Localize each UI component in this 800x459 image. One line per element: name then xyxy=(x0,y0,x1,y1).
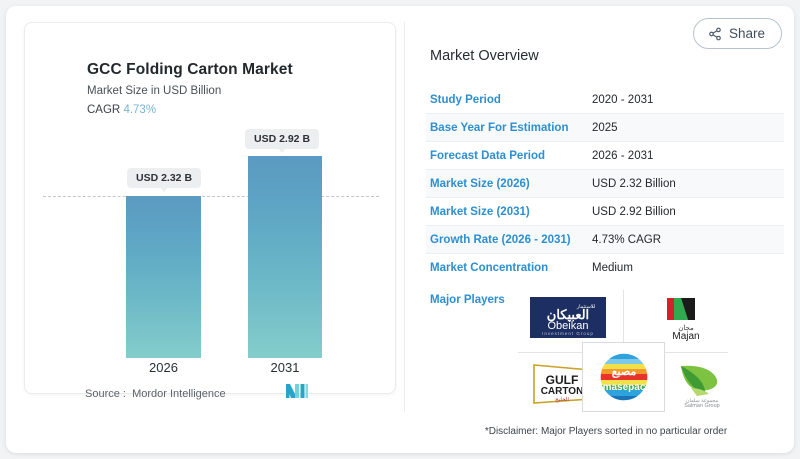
table-row: Study Period 2020 - 2031 xyxy=(426,86,784,114)
row-value: 2026 - 2031 xyxy=(592,150,653,162)
chart-cagr: CAGR 4.73% xyxy=(87,104,156,116)
major-players-logo-grid: للاستثمار العبيكان Obeikan Investment Gr… xyxy=(518,290,728,412)
x-tick-2026: 2026 xyxy=(126,360,201,375)
players-disclaimer: *Disclaimer: Major Players sorted in no … xyxy=(426,426,786,437)
player-logo-obeikan[interactable]: للاستثمار العبيكان Obeikan Investment Gr… xyxy=(524,290,612,344)
chart-source-row: Source : Mordor Intelligence xyxy=(43,383,379,404)
bar-label-2026: USD 2.32 B xyxy=(127,168,201,188)
table-row: Forecast Data Period 2026 - 2031 xyxy=(426,142,784,170)
svg-text:Investment Group: Investment Group xyxy=(542,331,594,336)
row-key: Market Size (2031) xyxy=(426,206,592,218)
cagr-label: CAGR xyxy=(87,104,120,116)
row-key: Study Period xyxy=(426,94,592,106)
svg-text:CARTON: CARTON xyxy=(541,386,584,397)
row-value: 2025 xyxy=(592,122,618,134)
mordor-intelligence-logo xyxy=(286,383,308,404)
svg-text:Majan: Majan xyxy=(672,331,699,341)
player-logo-masepac[interactable]: مصبع masepac xyxy=(582,342,665,412)
chart-title: GCC Folding Carton Market xyxy=(87,61,293,79)
row-value: USD 2.32 Billion xyxy=(592,178,676,190)
row-key: Forecast Data Period xyxy=(426,150,592,162)
row-key: Market Concentration xyxy=(426,262,592,274)
svg-text:masepac: masepac xyxy=(602,382,645,393)
chart-x-axis: 2026 2031 xyxy=(43,360,379,380)
svg-text:الخليج: الخليج xyxy=(555,396,569,403)
chart-panel: GCC Folding Carton Market Market Size in… xyxy=(24,22,396,394)
bar-2026[interactable] xyxy=(126,196,201,358)
bar-2031[interactable] xyxy=(248,156,322,358)
bar-label-2031: USD 2.92 B xyxy=(245,129,319,149)
chart-subtitle: Market Size in USD Billion xyxy=(87,85,221,97)
table-row: Growth Rate (2026 - 2031) 4.73% CAGR xyxy=(426,226,784,254)
x-tick-2031: 2031 xyxy=(248,360,322,375)
overview-title: Market Overview xyxy=(430,48,786,64)
table-row: Base Year For Estimation 2025 xyxy=(426,114,784,142)
row-value: USD 2.92 Billion xyxy=(592,206,676,218)
player-logo-salman-group[interactable]: مجموعة سلمان Salman Group xyxy=(658,356,746,410)
table-row: Market Size (2031) USD 2.92 Billion xyxy=(426,198,784,226)
row-value: 4.73% CAGR xyxy=(592,234,661,246)
source-name: Mordor Intelligence xyxy=(132,388,226,400)
market-overview-panel: Market Overview Study Period 2020 - 2031… xyxy=(426,22,786,412)
row-value: Medium xyxy=(592,262,633,274)
player-logo-majan[interactable]: مجان Majan xyxy=(642,290,730,344)
row-key: Growth Rate (2026 - 2031) xyxy=(426,234,592,246)
chart-plot-area: USD 2.32 B USD 2.92 B xyxy=(43,128,379,358)
svg-text:مصبع: مصبع xyxy=(611,366,636,378)
svg-text:GULF: GULF xyxy=(546,373,579,387)
major-players-row: Major Players للاستثمار العبيكان Obeikan… xyxy=(426,290,786,412)
row-key: Market Size (2026) xyxy=(426,178,592,190)
reference-dashed-line xyxy=(43,196,379,197)
svg-text:Salman Group: Salman Group xyxy=(684,403,719,408)
page-root: Share GCC Folding Carton Market Market S… xyxy=(0,0,800,459)
source-label: Source : Mordor Intelligence xyxy=(85,388,226,400)
row-key: Base Year For Estimation xyxy=(426,122,592,134)
main-card: Share GCC Folding Carton Market Market S… xyxy=(6,6,794,453)
cagr-value: 4.73% xyxy=(123,104,156,116)
table-row: Market Size (2026) USD 2.32 Billion xyxy=(426,170,784,198)
table-row: Market Concentration Medium xyxy=(426,254,784,282)
overview-table: Study Period 2020 - 2031 Base Year For E… xyxy=(426,86,784,282)
panel-divider xyxy=(404,22,405,412)
row-value: 2020 - 2031 xyxy=(592,94,653,106)
